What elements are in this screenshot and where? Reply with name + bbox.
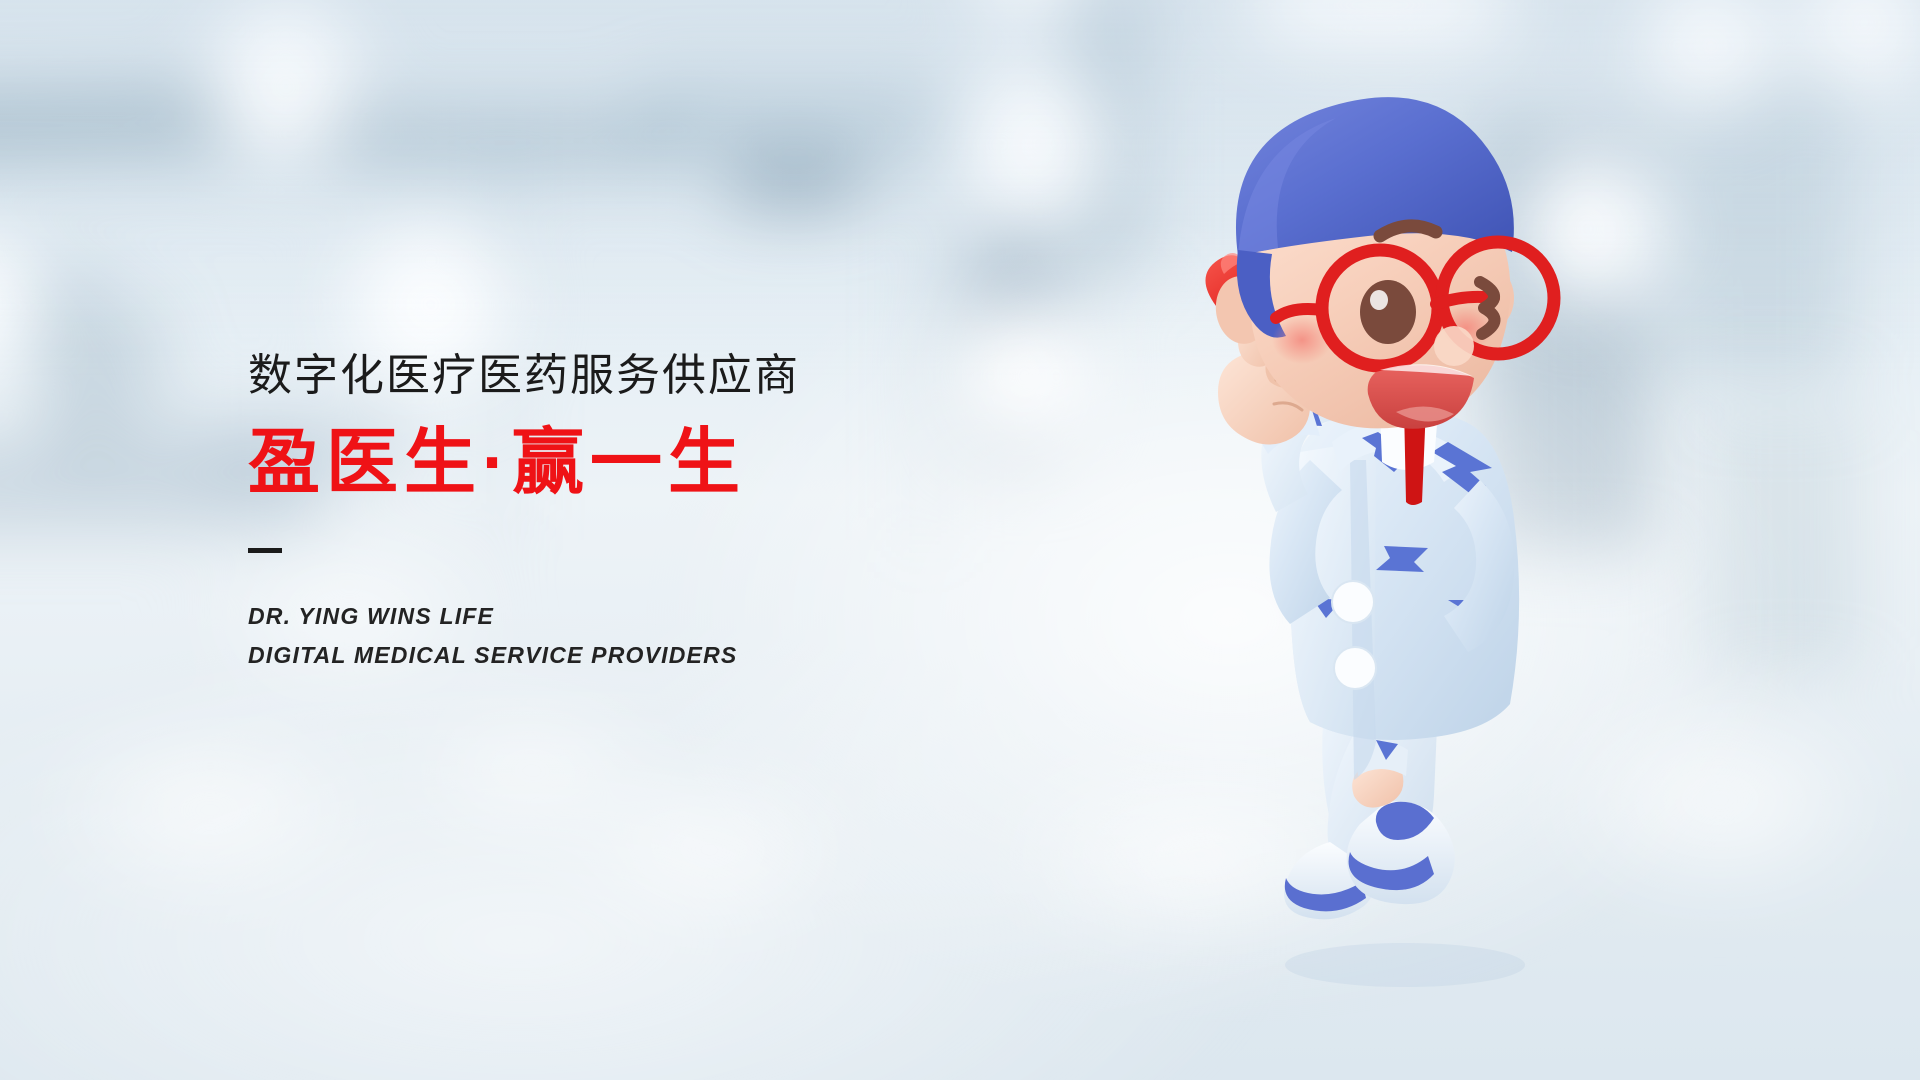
nose xyxy=(1434,326,1474,366)
subtitle-line-1: DR. YING WINS LIFE xyxy=(248,597,948,636)
background-person-silhouette xyxy=(110,290,170,460)
bokeh-light xyxy=(1170,0,1590,50)
hero-copy: 数字化医疗医药服务供应商 盈医生·赢一生 DR. YING WINS LIFE … xyxy=(248,352,948,674)
bokeh-light xyxy=(960,290,1090,480)
ceiling-beam xyxy=(640,80,940,150)
background-person-silhouette xyxy=(40,260,115,460)
subtitle-line-2: DIGITAL MEDICAL SERVICE PROVIDERS xyxy=(248,636,948,675)
hero-banner: 数字化医疗医药服务供应商 盈医生·赢一生 DR. YING WINS LIFE … xyxy=(0,0,1920,1080)
divider-dash xyxy=(248,548,282,553)
character-shadow xyxy=(1285,943,1525,987)
page-title: 数字化医疗医药服务供应商 xyxy=(248,352,948,400)
floor-reflection xyxy=(560,780,860,920)
hero-slogan: 盈医生·赢一生 xyxy=(248,426,948,502)
background-pillar xyxy=(1700,410,1860,670)
eye-highlight xyxy=(1370,290,1388,310)
floor-reflection xyxy=(40,730,380,890)
brown-eye xyxy=(1360,280,1416,344)
background-pillar xyxy=(730,150,860,210)
bokeh-light xyxy=(970,50,1100,255)
doctor-mascot-illustration xyxy=(1180,60,1610,1020)
hero-subtitle: DR. YING WINS LIFE DIGITAL MEDICAL SERVI… xyxy=(248,597,948,674)
bokeh-light xyxy=(0,230,30,390)
